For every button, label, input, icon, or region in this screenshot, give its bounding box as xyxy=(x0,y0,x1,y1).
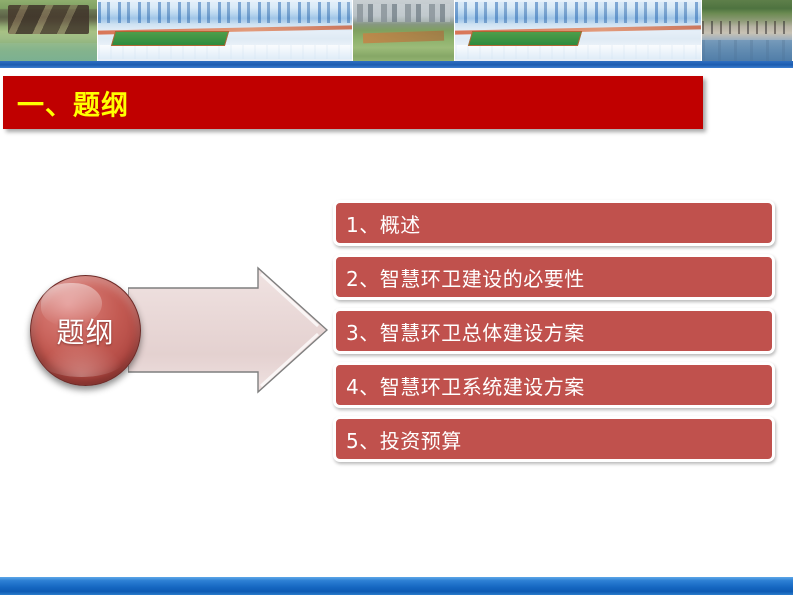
header-photo-skyline-lawn xyxy=(353,0,455,61)
presentation-slide: 一、题纲 题纲 1、概述 2、智慧环卫建设的必要性 3、智慧环卫总体建设方案 xyxy=(0,0,793,595)
slide-title-banner: 一、题纲 xyxy=(3,76,703,129)
header-photo-plaza-fountain xyxy=(702,0,793,61)
header-photo-strip xyxy=(0,0,793,61)
outline-circle-label: 题纲 xyxy=(56,311,114,351)
outline-item-5[interactable]: 5、投资预算 xyxy=(333,416,775,462)
city-foreground xyxy=(98,45,352,58)
outline-item-label: 5、投资预算 xyxy=(336,425,462,454)
city-bridge-line-2 xyxy=(455,25,701,34)
city-bridge-line xyxy=(98,25,352,34)
outline-item-label: 4、智慧环卫系统建设方案 xyxy=(336,371,585,400)
outline-circle-node: 题纲 xyxy=(30,275,141,386)
outline-item-3[interactable]: 3、智慧环卫总体建设方案 xyxy=(333,308,775,354)
header-photo-aerial-city-1 xyxy=(98,0,353,61)
right-arrow-icon xyxy=(128,266,328,394)
header-photo-park-pavilion xyxy=(0,0,98,61)
footer-bar xyxy=(0,577,793,595)
outline-item-label: 3、智慧环卫总体建设方案 xyxy=(336,317,585,346)
header-blue-rule xyxy=(0,61,793,68)
outline-item-4[interactable]: 4、智慧环卫系统建设方案 xyxy=(333,362,775,408)
slide-title: 一、题纲 xyxy=(17,83,129,122)
outline-list: 1、概述 2、智慧环卫建设的必要性 3、智慧环卫总体建设方案 4、智慧环卫系统建… xyxy=(333,200,775,462)
outline-item-1[interactable]: 1、概述 xyxy=(333,200,775,246)
city-foreground-2 xyxy=(455,45,701,58)
outline-item-2[interactable]: 2、智慧环卫建设的必要性 xyxy=(333,254,775,300)
outline-item-label: 1、概述 xyxy=(336,209,421,238)
outline-item-label: 2、智慧环卫建设的必要性 xyxy=(336,263,585,292)
header-photo-aerial-city-2 xyxy=(455,0,702,61)
